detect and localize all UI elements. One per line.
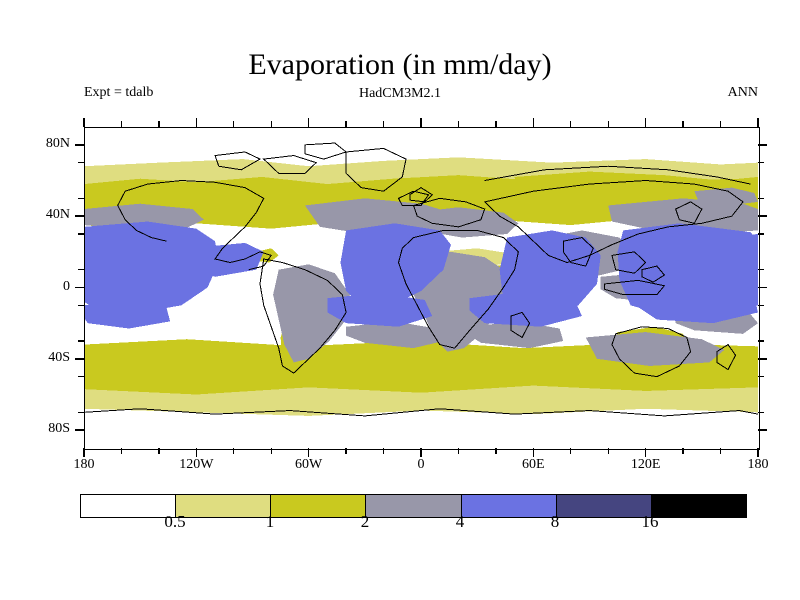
x-tick-minor [345, 121, 346, 127]
x-tick-minor [570, 121, 571, 127]
x-axis-label: 120E [631, 457, 661, 473]
y-tick-minor [758, 305, 764, 306]
x-tick-minor [682, 121, 683, 127]
y-axis-label: 0 [0, 279, 70, 295]
model-label: HadCM3M2.1 [0, 86, 800, 102]
x-tick-minor [458, 121, 459, 127]
y-tick-major [75, 429, 84, 430]
page-title: Evaporation (in mm/day) [0, 48, 800, 82]
colorbar-tick-label: 16 [642, 512, 659, 532]
y-axis-label: 80N [0, 136, 70, 152]
y-tick-major [758, 215, 767, 216]
y-tick-major [758, 144, 767, 145]
y-tick-minor [78, 269, 84, 270]
colorbar-band[interactable] [366, 495, 461, 517]
y-tick-minor [78, 340, 84, 341]
x-tick-minor [121, 448, 122, 454]
x-tick-minor [720, 121, 721, 127]
x-axis-label: 180 [74, 457, 95, 473]
y-tick-minor [78, 233, 84, 234]
world-evaporation-contour-map [84, 127, 758, 448]
x-tick-major [83, 448, 84, 457]
x-tick-major [420, 448, 421, 457]
x-tick-major [533, 448, 534, 457]
colorbar-band[interactable] [557, 495, 652, 517]
x-tick-minor [271, 121, 272, 127]
x-tick-minor [233, 448, 234, 454]
x-tick-major [420, 118, 421, 127]
evaporation-map-figure: Evaporation (in mm/day) Expt = tdalb Had… [0, 0, 800, 600]
x-tick-minor [458, 448, 459, 454]
x-axis-label: 180 [748, 457, 769, 473]
x-tick-minor [345, 448, 346, 454]
x-tick-major [308, 118, 309, 127]
x-tick-major [645, 118, 646, 127]
y-tick-minor [78, 198, 84, 199]
x-tick-minor [271, 448, 272, 454]
y-tick-minor [758, 233, 764, 234]
y-tick-minor [758, 162, 764, 163]
x-tick-major [757, 448, 758, 457]
colorbar-band[interactable] [176, 495, 271, 517]
colorbar-tick-label: 2 [361, 512, 370, 532]
x-tick-major [533, 118, 534, 127]
x-tick-minor [233, 121, 234, 127]
y-tick-major [758, 429, 767, 430]
y-tick-minor [758, 198, 764, 199]
colorbar-band[interactable] [81, 495, 176, 517]
x-axis-label: 120W [179, 457, 213, 473]
x-tick-minor [121, 121, 122, 127]
colorbar-tick-label: 0.5 [164, 512, 185, 532]
colorbar-band[interactable] [462, 495, 557, 517]
colorbar-band[interactable] [271, 495, 366, 517]
x-tick-major [308, 448, 309, 457]
y-tick-minor [78, 162, 84, 163]
x-tick-major [645, 448, 646, 457]
y-tick-major [758, 287, 767, 288]
y-tick-major [75, 144, 84, 145]
x-axis-label: 0 [418, 457, 425, 473]
period-label: ANN [728, 85, 758, 101]
y-tick-major [75, 287, 84, 288]
y-tick-minor [758, 412, 764, 413]
colorbar-tick-label: 4 [456, 512, 465, 532]
y-tick-minor [78, 412, 84, 413]
x-tick-minor [608, 448, 609, 454]
y-tick-minor [758, 376, 764, 377]
y-tick-minor [758, 269, 764, 270]
x-tick-major [196, 118, 197, 127]
colorbar-tick-label: 8 [551, 512, 560, 532]
y-tick-minor [78, 305, 84, 306]
x-tick-minor [158, 448, 159, 454]
x-tick-minor [720, 448, 721, 454]
y-tick-minor [78, 376, 84, 377]
x-axis-label: 60W [295, 457, 322, 473]
y-axis-label: 40S [0, 350, 70, 366]
y-axis-label: 40N [0, 207, 70, 223]
map-plot-area [84, 127, 758, 448]
y-tick-major [758, 358, 767, 359]
colorbar-tick-label: 1 [266, 512, 275, 532]
x-tick-minor [495, 448, 496, 454]
x-axis-label: 60E [522, 457, 545, 473]
y-tick-minor [758, 340, 764, 341]
y-axis-label: 80S [0, 421, 70, 437]
x-tick-minor [682, 448, 683, 454]
x-tick-minor [383, 121, 384, 127]
y-tick-major [75, 215, 84, 216]
x-tick-minor [570, 448, 571, 454]
x-tick-major [196, 448, 197, 457]
x-tick-minor [608, 121, 609, 127]
x-tick-minor [158, 121, 159, 127]
x-tick-minor [495, 121, 496, 127]
y-tick-major [75, 358, 84, 359]
x-tick-major [83, 118, 84, 127]
colorbar-band[interactable] [652, 495, 746, 517]
x-tick-major [757, 118, 758, 127]
x-tick-minor [383, 448, 384, 454]
